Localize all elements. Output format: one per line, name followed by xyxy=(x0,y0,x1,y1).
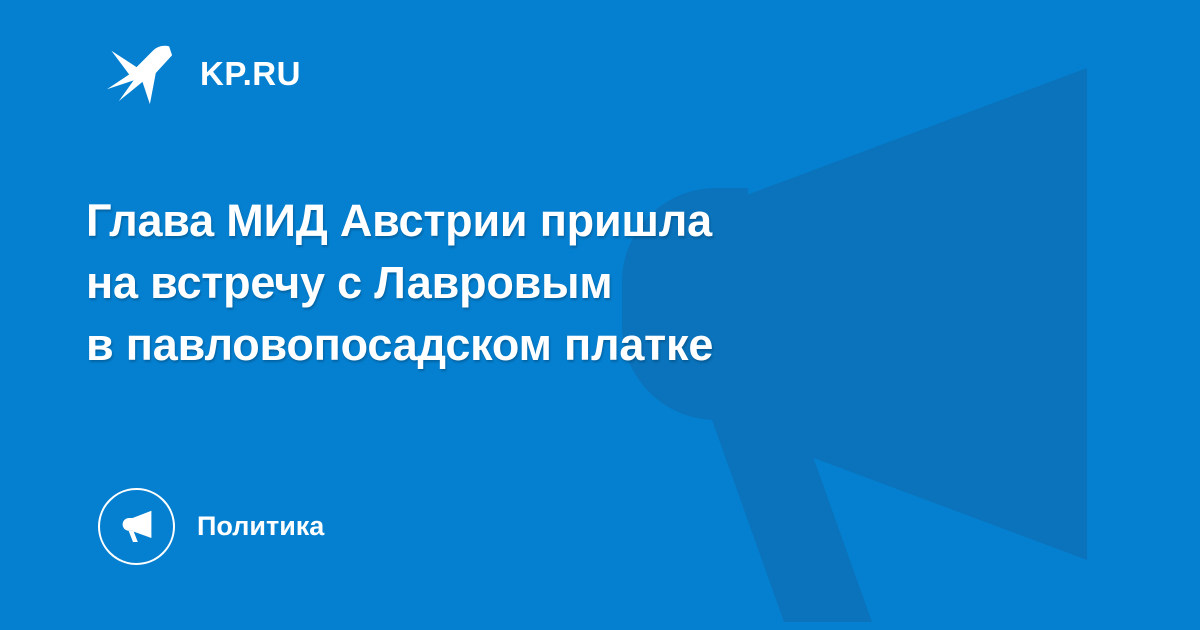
swallow-bird-icon xyxy=(104,36,178,110)
headline-line-2: на встречу с Лавровым xyxy=(86,252,986,314)
headline: Глава МИД Австрии пришла на встречу с Ла… xyxy=(86,190,986,376)
category-label: Политика xyxy=(197,513,324,540)
headline-line-3: в павловопосадском платке xyxy=(86,314,986,376)
megaphone-icon xyxy=(117,506,157,546)
brand-header: KP.RU xyxy=(104,34,301,112)
category-icon-circle xyxy=(98,488,175,565)
brand-wordmark: KP.RU xyxy=(200,57,301,90)
category-badge[interactable]: Политика xyxy=(98,487,324,565)
headline-line-1: Глава МИД Австрии пришла xyxy=(86,190,986,252)
share-card: KP.RU Глава МИД Австрии пришла на встреч… xyxy=(0,0,1200,630)
